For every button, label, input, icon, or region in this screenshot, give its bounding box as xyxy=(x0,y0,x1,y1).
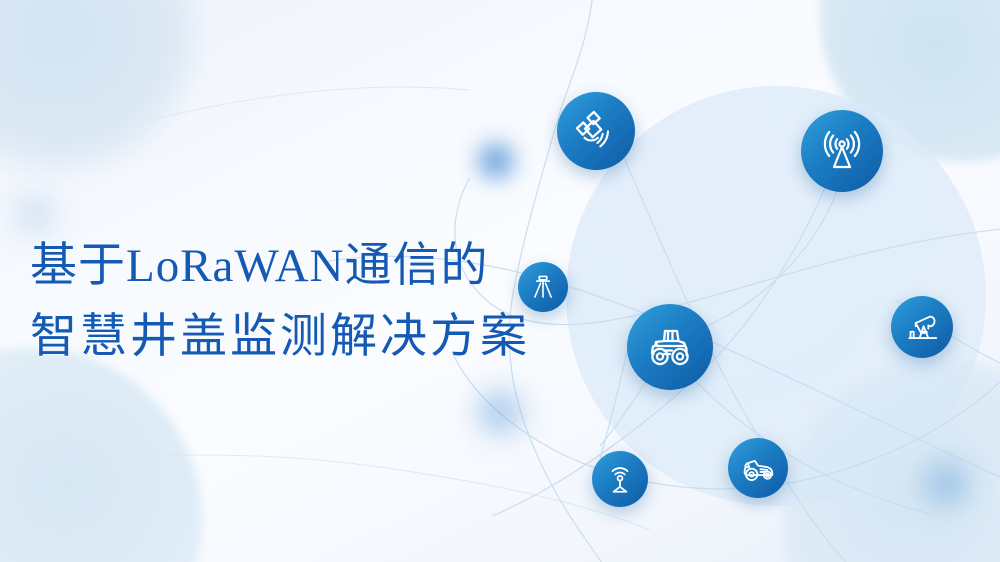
node-antenna-tower[interactable] xyxy=(801,110,883,192)
slide-canvas: 基于LoRaWAN通信的 智慧井盖监测解决方案 xyxy=(0,0,1000,562)
node-satellite[interactable] xyxy=(557,92,635,170)
sensor-beacon-icon xyxy=(603,462,637,496)
antenna-tower-icon xyxy=(818,127,866,175)
harvester-icon xyxy=(739,449,777,487)
satellite-icon xyxy=(573,108,619,154)
tractor-icon xyxy=(644,321,696,373)
node-oil-pump[interactable] xyxy=(891,296,953,358)
slide-title: 基于LoRaWAN通信的 智慧井盖监测解决方案 xyxy=(30,231,530,374)
node-tractor[interactable] xyxy=(627,304,713,390)
oil-pump-icon xyxy=(903,308,941,346)
node-sensor-beacon[interactable] xyxy=(592,451,648,507)
title-line-2: 智慧井盖监测解决方案 xyxy=(30,302,530,373)
survey-tripod-icon xyxy=(528,272,558,302)
title-line-1: 基于LoRaWAN通信的 xyxy=(30,231,530,302)
node-harvester[interactable] xyxy=(728,438,788,498)
node-survey-tripod[interactable] xyxy=(518,262,568,312)
